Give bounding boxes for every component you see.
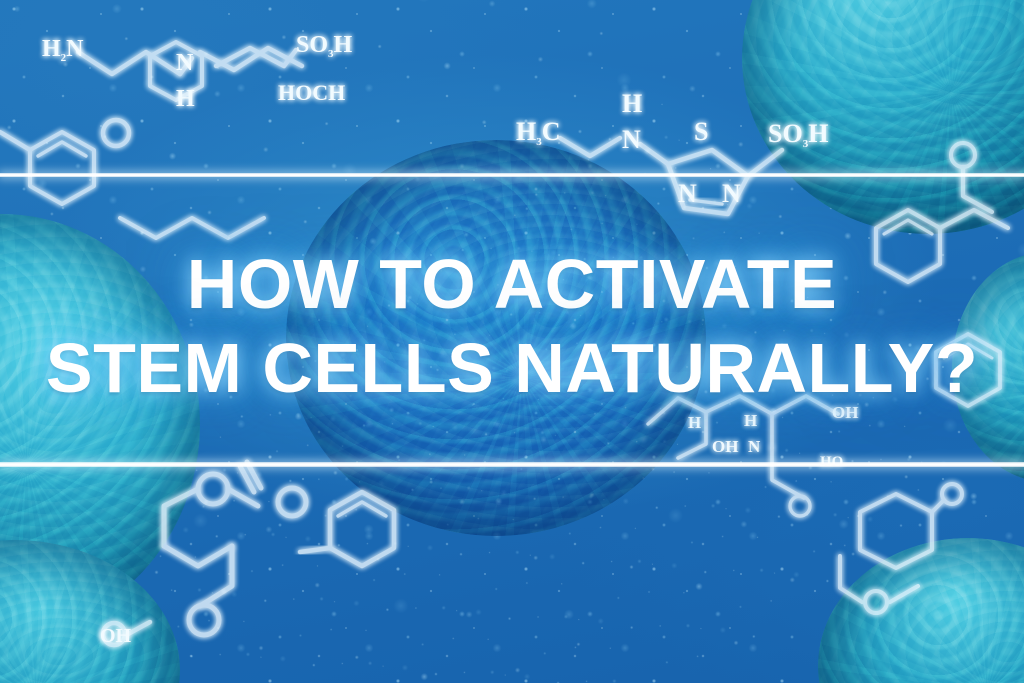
svg-text:OH: OH — [712, 437, 738, 456]
svg-text:OH: OH — [100, 625, 132, 647]
svg-text:SO3H: SO3H — [296, 32, 353, 60]
top-divider-rule — [0, 173, 1024, 177]
svg-text:N: N — [722, 179, 741, 208]
svg-text:H: H — [688, 413, 701, 432]
svg-text:N: N — [176, 50, 194, 76]
svg-text:H: H — [744, 411, 757, 430]
svg-text:N: N — [748, 437, 761, 456]
headline-line-1: HOW TO ACTIVATE — [0, 249, 1024, 319]
headline-line-2: STEM CELLS NATURALLY? — [0, 333, 1024, 403]
svg-text:H2N: H2N — [42, 36, 84, 64]
svg-text:S: S — [694, 117, 708, 146]
svg-text:N: N — [678, 179, 697, 208]
svg-text:H: H — [622, 89, 642, 118]
svg-text:H3C: H3C — [516, 117, 561, 148]
svg-text:H: H — [176, 86, 195, 112]
svg-text:SO3H: SO3H — [768, 119, 828, 150]
banner-canvas: H2N N H SO3H HOCH H3C H N S N N SO3H H H… — [0, 0, 1024, 683]
svg-text:HOCH: HOCH — [278, 80, 345, 105]
bottom-divider-rule — [0, 462, 1024, 467]
svg-text:N: N — [622, 125, 641, 154]
